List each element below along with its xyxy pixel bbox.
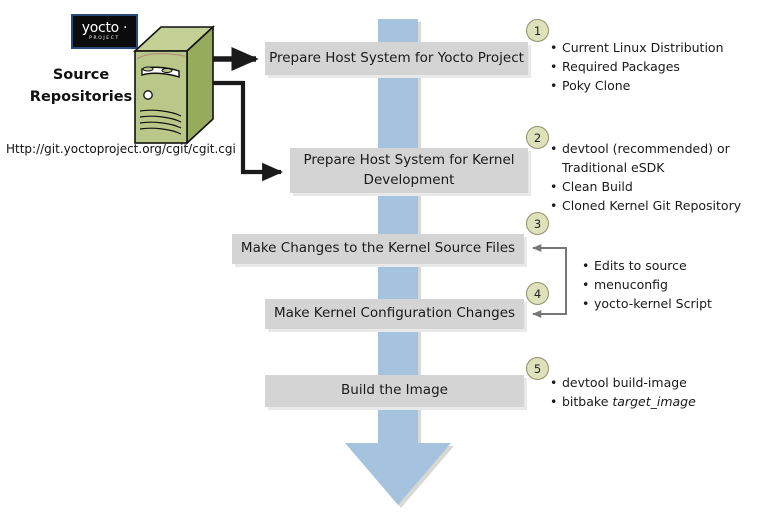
source-label-line-2: Repositories [20,86,142,108]
step-1-bullet-list: Current Linux Distribution Required Pack… [550,38,724,95]
step-box-5-label: Build the Image [341,381,448,401]
list-item: Clean Build [550,177,741,196]
arrow-server-to-step2 [213,83,281,172]
list-item: Required Packages [550,57,724,76]
list-item-command: bitbake [562,394,612,409]
list-item: Current Linux Distribution [550,38,724,57]
list-item-target-param: target_image [612,394,695,409]
source-label-line-1: Source [20,64,142,86]
step-box-4-label: Make Kernel Configuration Changes [274,304,515,324]
list-item: bitbake target_image [550,392,696,411]
step-box-2-label: Prepare Host System for Kernel Developme… [290,151,528,190]
step-box-3[interactable]: Make Changes to the Kernel Source Files [232,234,524,264]
step-box-3-label: Make Changes to the Kernel Source Files [241,239,515,259]
server-icon [133,25,215,145]
step-badge-4: 4 [526,282,549,305]
step-box-1-label: Prepare Host System for Yocto Project [269,49,524,69]
step-3-bullet-list: Edits to source menuconfig yocto-kernel … [582,256,712,313]
logo-wordmark: yocto · [73,21,136,35]
logo-subtitle: PROJECT [73,37,136,42]
step-box-2[interactable]: Prepare Host System for Kernel Developme… [290,148,528,193]
step-2-bullet-list: devtool (recommended) or Traditional eSD… [550,139,741,215]
step-5-bullet-list: devtool build-image bitbake target_image [550,373,696,411]
list-item: yocto-kernel Script [582,294,712,313]
list-item-line-2: Traditional eSDK [562,158,741,177]
step-box-1[interactable]: Prepare Host System for Yocto Project [265,42,528,75]
step-box-4[interactable]: Make Kernel Configuration Changes [265,299,524,329]
list-item: devtool (recommended) or Traditional eSD… [550,139,741,177]
step-badge-3: 3 [526,212,549,235]
step-badge-2: 2 [526,126,549,149]
step-badge-1: 1 [526,19,549,42]
yocto-project-logo: yocto · PROJECT [71,14,138,49]
step-box-5[interactable]: Build the Image [265,375,524,407]
list-item: Edits to source [582,256,712,275]
list-item-line-1: devtool (recommended) or [562,141,730,156]
spine-arrowhead [345,443,451,505]
list-item: menuconfig [582,275,712,294]
list-item: Poky Clone [550,76,724,95]
list-item: devtool build-image [550,373,696,392]
step-badge-5: 5 [526,357,549,380]
list-item: Cloned Kernel Git Repository [550,196,741,215]
source-repositories-label: Source Repositories [20,64,142,109]
diagram-canvas: yocto · PROJECT Source Repositories Http… [0,0,769,517]
